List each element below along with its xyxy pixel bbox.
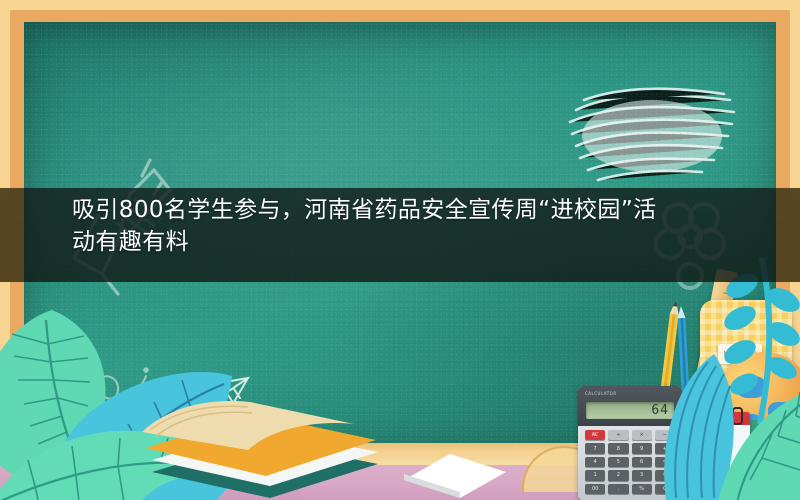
calculator-key-1[interactable]: 1 bbox=[585, 470, 605, 480]
calculator-key-4[interactable]: 4 bbox=[585, 457, 605, 467]
calculator-key-double-zero[interactable]: 00 bbox=[585, 484, 605, 494]
calculator-brand: CALCULATOR bbox=[585, 391, 617, 396]
calculator-key-8[interactable]: 8 bbox=[608, 443, 628, 453]
calculator-key-9[interactable]: 9 bbox=[632, 443, 652, 453]
book-stack-left bbox=[140, 398, 390, 500]
calculator-key-ac[interactable]: AC bbox=[585, 430, 605, 440]
headline: 吸引800名学生参与，河南省药品安全宣传周“进校园”活 动有趣有料 bbox=[72, 194, 732, 258]
calculator-key-7[interactable]: 7 bbox=[585, 443, 605, 453]
calculator-key-divide[interactable]: ÷ bbox=[608, 430, 628, 440]
headline-band-left-edge bbox=[0, 188, 24, 282]
headline-line-1: 吸引800名学生参与，河南省药品安全宣传周“进校园”活 bbox=[72, 194, 732, 226]
headline-line-2: 动有趣有料 bbox=[72, 226, 732, 258]
foliage-leaf-right-big bbox=[704, 384, 800, 500]
eraser-smudge bbox=[558, 70, 748, 200]
cover-image: Name School CALCULATOR 64 AC ÷ × − bbox=[0, 0, 800, 500]
calculator-key-5[interactable]: 5 bbox=[608, 457, 628, 467]
calculator-key-percent[interactable]: % bbox=[632, 484, 652, 494]
calculator-key-multiply[interactable]: × bbox=[632, 430, 652, 440]
calculator-key-6[interactable]: 6 bbox=[632, 457, 652, 467]
headline-band-right-edge bbox=[776, 188, 800, 282]
calculator-key-3[interactable]: 3 bbox=[632, 470, 652, 480]
calculator-key-2[interactable]: 2 bbox=[608, 470, 628, 480]
calculator-key-decimal[interactable]: . bbox=[608, 484, 628, 494]
book-small bbox=[400, 420, 510, 500]
